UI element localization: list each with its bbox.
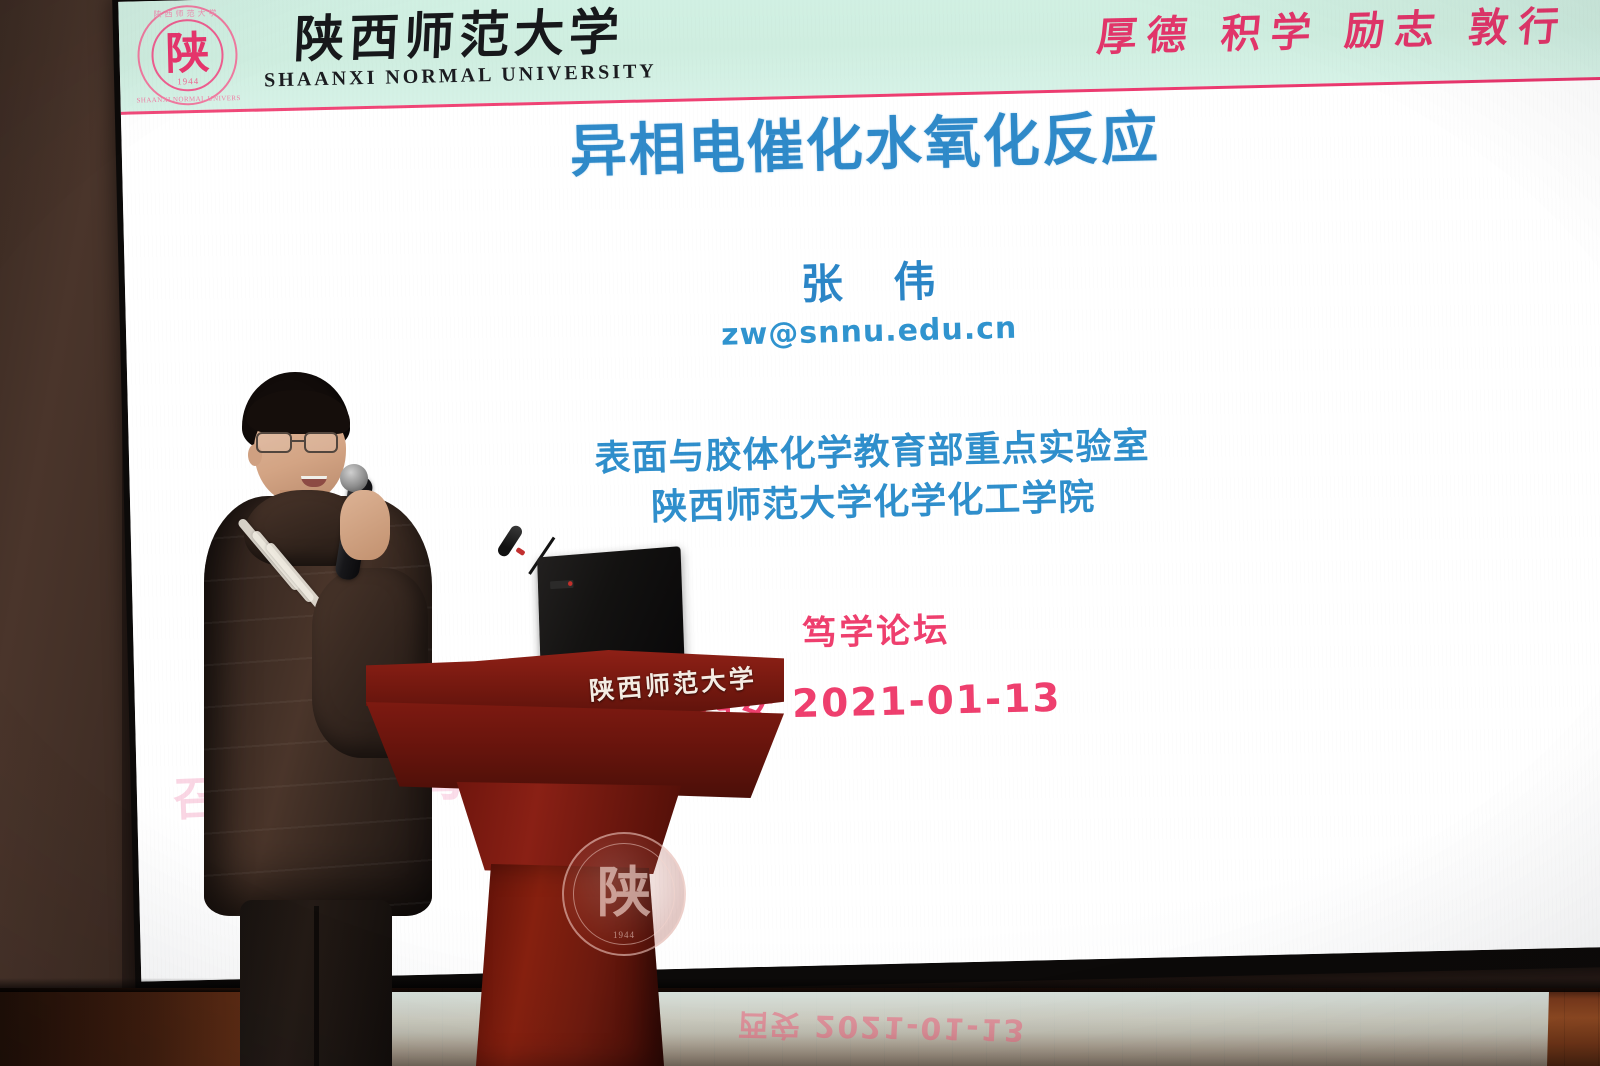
seal-arc-bottom-text: SHAANXI NORMAL UNIVERSITY bbox=[136, 94, 240, 104]
eyeglasses-icon bbox=[254, 432, 348, 454]
seal-arc-top-text: 陕西师范大学 bbox=[134, 7, 238, 20]
podium-shelf bbox=[366, 702, 784, 798]
laptop-logo-icon bbox=[550, 580, 573, 589]
university-name-chinese: 陕西师范大学 bbox=[293, 6, 625, 64]
leg-separation bbox=[314, 906, 319, 1066]
right-lens bbox=[304, 432, 338, 453]
podium-seal-year: 1944 bbox=[564, 930, 684, 940]
podium-seal-icon: 陕 1944 bbox=[562, 832, 686, 956]
speaker-hand bbox=[340, 490, 390, 560]
lectern-podium: 陕西师范大学 陕 1944 bbox=[366, 650, 784, 1066]
photo-scene: 陕西师范大学 陕 1944 SHAANXI NORMAL UNIVERSITY … bbox=[0, 0, 1600, 1066]
university-motto: 厚德 积学 励志 敦行 bbox=[1095, 0, 1572, 63]
seal-character: 陕 bbox=[135, 31, 240, 77]
podium-seal-character: 陕 bbox=[564, 865, 684, 919]
university-name-block: 陕西师范大学 SHAANXI NORMAL UNIVERSITY bbox=[263, 6, 658, 92]
university-seal-icon: 陕西师范大学 陕 1944 SHAANXI NORMAL UNIVERSITY bbox=[134, 2, 240, 108]
left-wall bbox=[0, 0, 122, 1010]
left-lens bbox=[256, 432, 292, 453]
